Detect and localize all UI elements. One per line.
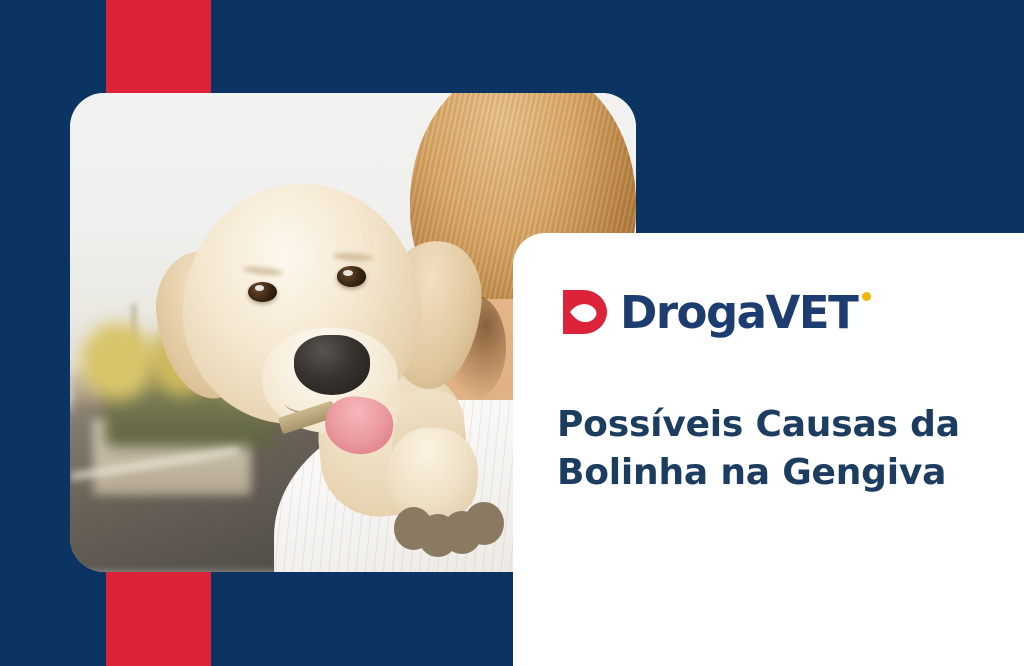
content-panel: DrogaVET Possíveis Causas da Bolinha na … bbox=[513, 233, 1024, 666]
wordmark-droga: Droga bbox=[620, 286, 766, 339]
dog-eye-glint bbox=[255, 285, 265, 291]
dog-claw bbox=[464, 502, 504, 545]
dog-eye-right bbox=[337, 266, 366, 286]
photo-tree bbox=[81, 323, 155, 400]
banner-root: DrogaVET Possíveis Causas da Bolinha na … bbox=[0, 0, 1024, 666]
page-title-line-1: Possíveis Causas da bbox=[557, 401, 987, 449]
drogavet-wordmark: DrogaVET bbox=[620, 290, 857, 335]
page-title-line-2: Bolinha na Gengiva bbox=[557, 449, 987, 497]
dog-eye-glint bbox=[343, 270, 353, 276]
page-title: Possíveis Causas da Bolinha na Gengiva bbox=[557, 401, 987, 497]
drogavet-logo: DrogaVET bbox=[557, 283, 857, 341]
drogavet-d-mark-icon bbox=[557, 286, 609, 338]
dog-nose bbox=[294, 335, 370, 395]
logo-accent-dot-icon bbox=[862, 292, 871, 301]
wordmark-vet: VET bbox=[766, 286, 858, 339]
